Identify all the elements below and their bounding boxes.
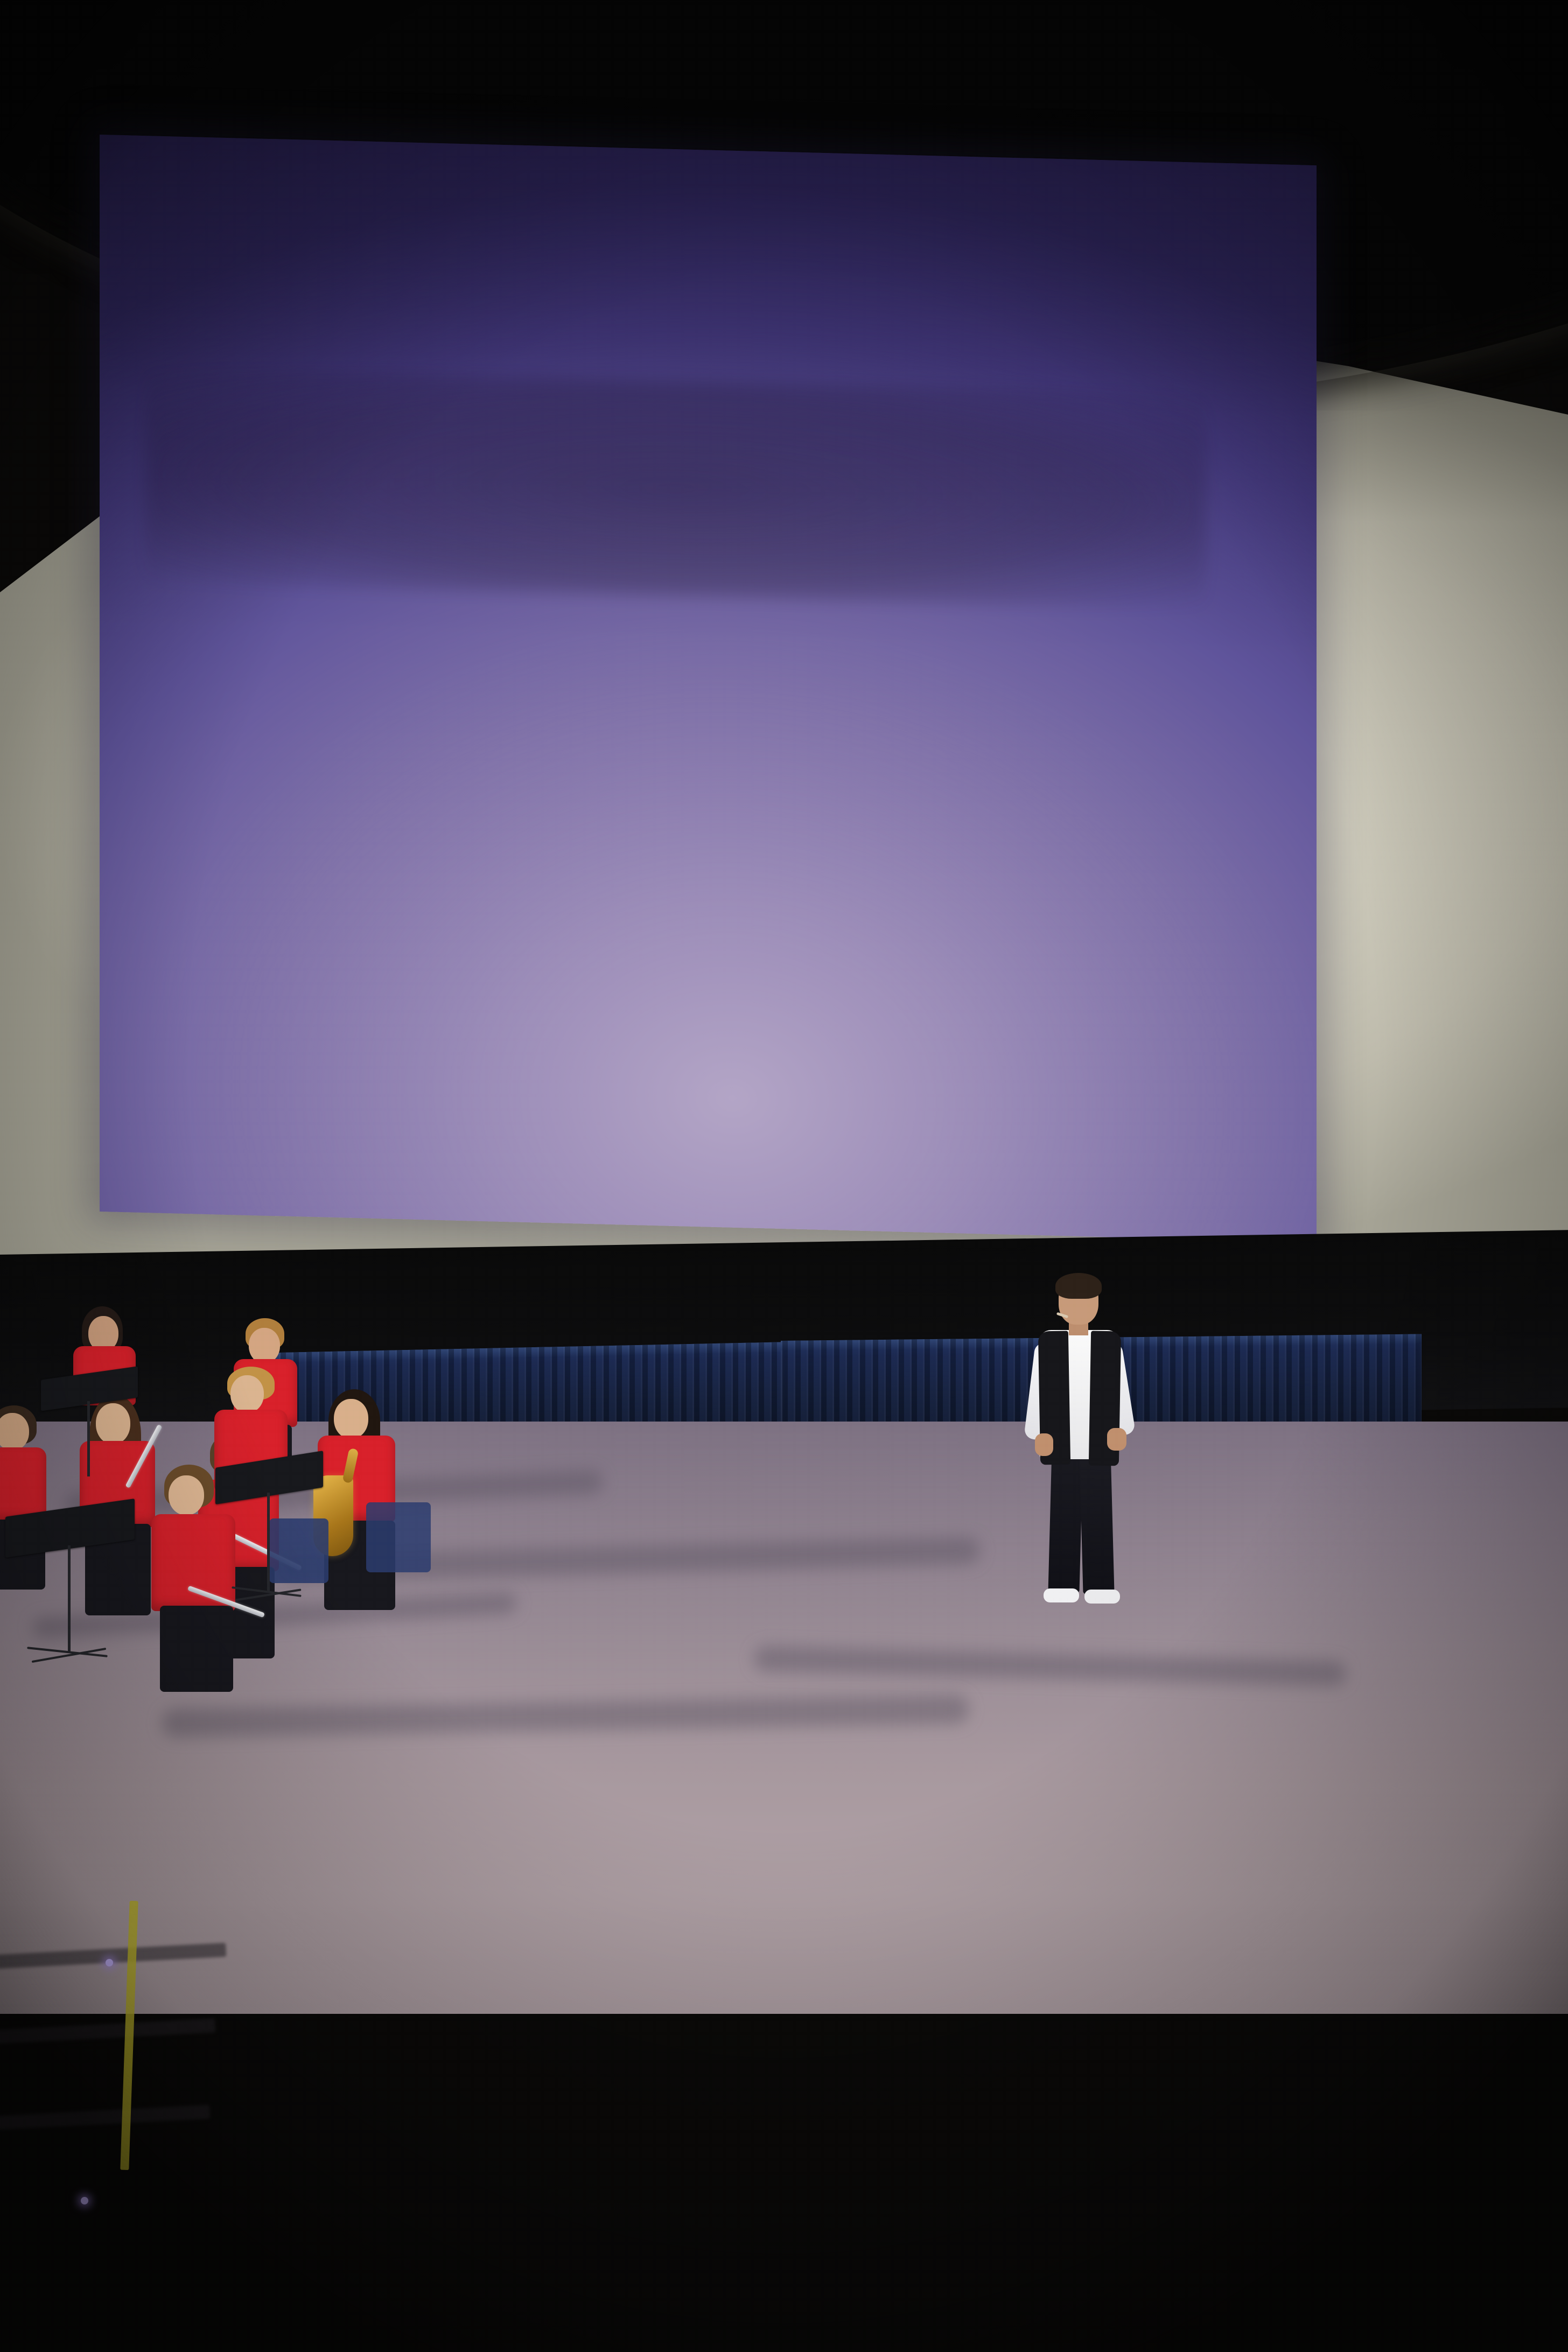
presenter-leg-left bbox=[1048, 1447, 1083, 1593]
aisle-step bbox=[0, 1943, 226, 1970]
music-stand[interactable] bbox=[5, 1508, 135, 1669]
aisle-step bbox=[0, 2019, 215, 2045]
presenter bbox=[1017, 1276, 1140, 1621]
presenter-hair bbox=[1055, 1273, 1102, 1299]
photo-scene bbox=[0, 0, 1568, 2352]
aisle-step-light-icon bbox=[106, 1959, 113, 1966]
projection-screen bbox=[100, 135, 1317, 1242]
slide-organization bbox=[100, 681, 1317, 712]
slide-place-date bbox=[100, 837, 1317, 868]
presenter-leg-right bbox=[1079, 1447, 1114, 1594]
aisle-step bbox=[0, 2105, 210, 2131]
presenter-shoe-left bbox=[1044, 1588, 1079, 1602]
band-chair[interactable] bbox=[366, 1502, 431, 1572]
slide-content bbox=[100, 135, 1317, 1242]
music-stand[interactable] bbox=[215, 1459, 323, 1610]
slide-title bbox=[100, 380, 1317, 484]
audience-seating bbox=[0, 1648, 1568, 2352]
presenter-shoe-right bbox=[1084, 1590, 1120, 1604]
music-stand[interactable] bbox=[41, 1373, 138, 1486]
presenter-hand-right bbox=[1107, 1428, 1126, 1451]
aisle-step-light-icon bbox=[81, 2197, 88, 2204]
presenter-hand-left bbox=[1035, 1433, 1053, 1456]
